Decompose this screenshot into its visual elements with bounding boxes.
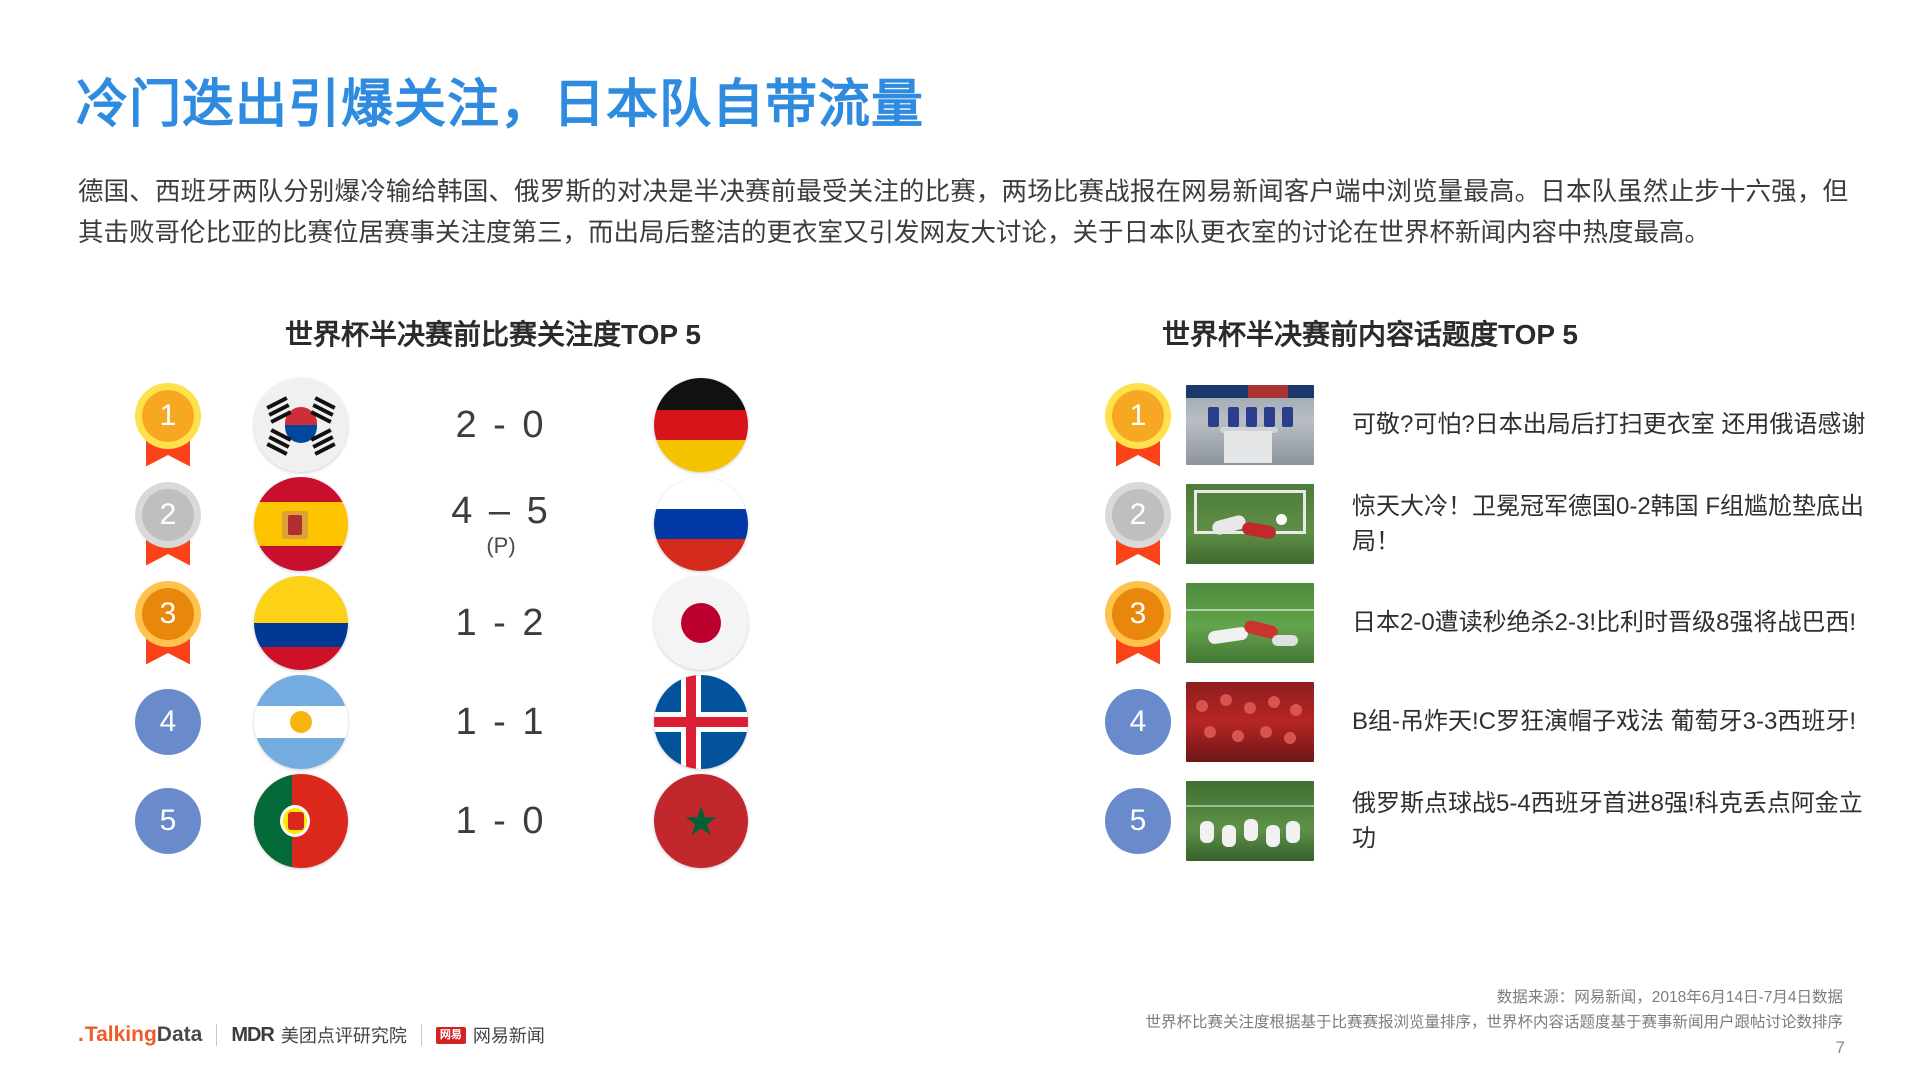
rank-badge-5: 5 [1090,788,1186,854]
rank-label: 5 [160,804,177,838]
rank-circle-icon: 5 [135,788,201,854]
netease-badge-icon: 网易 [436,1027,466,1044]
rank-badge-2: 2 [120,482,216,566]
rank-label: 2 [160,498,177,532]
methodology-line: 世界杯比赛关注度根据基于比赛赛报浏览量排序，世界杯内容话题度基于赛事新闻用户跟帖… [1145,1010,1843,1035]
colombia-flag-icon [254,576,348,670]
rank-label: 2 [1130,498,1147,532]
gold-medal-icon: 1 [135,383,201,467]
match-row: 3 1 - 2 [120,573,880,672]
brand-divider [421,1024,422,1046]
rank-label: 1 [160,399,177,433]
talkingdata-logo-text-a: Talking [85,1023,157,1047]
rank-badge-3: 3 [120,581,216,665]
rank-badge-3: 3 [1090,581,1186,665]
home-flag-cell [216,378,386,472]
red-crowd-thumbnail[interactable] [1186,682,1314,762]
page-title: 冷门迭出引爆关注，日本队自带流量 [76,62,924,137]
rank-badge-1: 1 [120,383,216,467]
brand-logo-bar: . Talking Data MDR 美团点评研究院 网易 网易新闻 [78,1022,545,1048]
rank-badge-1: 1 [1090,383,1186,467]
germany-flag-icon [654,378,748,472]
home-flag-cell [216,477,386,571]
talkingdata-logo: . Talking Data [78,1023,202,1047]
iceland-flag-icon [654,675,748,769]
news-row: 5 俄罗斯点球战5-4西班牙首进8强!科克丢点阿金立功 [1090,771,1880,870]
rank-circle-icon: 4 [135,689,201,755]
news-title[interactable]: 俄罗斯点球战5-4西班牙首进8强!科克丢点阿金立功 [1336,786,1880,856]
news-title[interactable]: 惊天大冷！卫冕冠军德国0-2韩国 F组尴尬垫底出局！ [1336,489,1880,559]
silver-medal-icon: 2 [135,482,201,566]
argentina-flag-icon [254,675,348,769]
rank-label: 4 [160,705,177,739]
rank-badge-2: 2 [1090,482,1186,566]
page-number: 7 [1836,1038,1845,1058]
rank-label: 3 [1130,597,1147,631]
match-ranking-list: 1 2 - 0 [120,375,880,870]
right-section-heading: 世界杯半决赛前内容话题度TOP 5 [1162,313,1578,353]
bronze-medal-icon: 3 [1105,581,1171,665]
match-score: 1 - 2 [386,601,616,645]
rank-circle-icon: 4 [1105,689,1171,755]
home-flag-cell [216,675,386,769]
rank-label: 1 [1130,399,1147,433]
match-row: 1 2 - 0 [120,375,880,474]
netease-news-logo: 网易 网易新闻 [436,1022,545,1048]
page-subtitle: 德国、西班牙两队分别爆冷输给韩国、俄罗斯的对决是半决赛前最受关注的比赛，两场比赛… [78,172,1848,254]
netease-label: 网易新闻 [473,1022,545,1048]
away-flag-cell [616,378,786,472]
bronze-medal-icon: 3 [135,581,201,665]
goalmouth-save-thumbnail[interactable] [1186,484,1314,564]
mdr-logo-text: MDR [231,1024,274,1047]
news-row: 1 可敬?可怕?日本出局后打扫更衣室 还用俄语感谢 [1090,375,1880,474]
news-thumbnail-cell[interactable] [1186,781,1336,861]
score-cell: 1 - 2 [386,601,616,645]
news-thumbnail-cell[interactable] [1186,484,1336,564]
rank-badge-4: 4 [1090,689,1186,755]
portugal-flag-icon [254,774,348,868]
news-title[interactable]: B组-吊炸天!C罗狂演帽子戏法 葡萄牙3-3西班牙! [1336,704,1880,739]
news-title[interactable]: 日本2-0遭读秒绝杀2-3!比利时晋级8强将战巴西! [1336,605,1880,640]
rank-label: 4 [1130,705,1147,739]
south-korea-flag-icon [254,378,348,472]
white-celebration-thumbnail[interactable] [1186,781,1314,861]
score-cell: 2 - 0 [386,403,616,447]
talkingdata-logo-text-b: Data [157,1023,203,1047]
rank-label: 3 [160,597,177,631]
talkingdata-dot-icon: . [78,1023,84,1047]
morocco-flag-icon: ★ [654,774,748,868]
score-cell: 1 - 1 [386,700,616,744]
match-row: 4 1 - 1 [120,672,880,771]
match-score: 2 - 0 [386,403,616,447]
match-score: 1 - 1 [386,700,616,744]
data-source-line: 数据来源：网易新闻，2018年6月14日-7月4日数据 [1145,985,1843,1010]
news-thumbnail-cell[interactable] [1186,583,1336,663]
slide-root: 冷门迭出引爆关注，日本队自带流量 德国、西班牙两队分别爆冷输给韩国、俄罗斯的对决… [0,0,1921,1080]
score-cell: 1 - 0 [386,799,616,843]
meituan-dianping-logo: MDR 美团点评研究院 [231,1022,407,1048]
rank-circle-icon: 5 [1105,788,1171,854]
match-score: 4 – 5 [386,489,616,533]
away-flag-cell [616,477,786,571]
mdr-label: 美团点评研究院 [281,1022,407,1048]
news-ranking-list: 1 可敬?可怕?日本出局后打扫更衣室 还用俄语感谢 2 [1090,375,1880,870]
rank-badge-4: 4 [120,689,216,755]
news-row: 3 日本2-0遭读秒绝杀2-3!比利时晋级8强将战巴西! [1090,573,1880,672]
away-flag-cell [616,576,786,670]
match-row: 2 4 – 5 (P) [120,474,880,573]
russia-flag-icon [654,477,748,571]
news-title[interactable]: 可敬?可怕?日本出局后打扫更衣室 还用俄语感谢 [1336,407,1880,442]
spain-flag-icon [254,477,348,571]
home-flag-cell [216,774,386,868]
home-flag-cell [216,576,386,670]
match-score: 1 - 0 [386,799,616,843]
rank-badge-5: 5 [120,788,216,854]
silver-medal-icon: 2 [1105,482,1171,566]
away-flag-cell: ★ [616,774,786,868]
locker-room-thumbnail[interactable] [1186,385,1314,465]
rank-label: 5 [1130,804,1147,838]
away-flag-cell [616,675,786,769]
match-row: 5 1 - 0 ★ [120,771,880,870]
match-score-note: (P) [386,533,616,559]
score-cell: 4 – 5 (P) [386,489,616,559]
pitch-celebration-thumbnail[interactable] [1186,583,1314,663]
japan-flag-icon [654,576,748,670]
news-thumbnail-cell[interactable] [1186,385,1336,465]
footer-source-note: 数据来源：网易新闻，2018年6月14日-7月4日数据 世界杯比赛关注度根据基于… [1145,985,1843,1035]
left-section-heading: 世界杯半决赛前比赛关注度TOP 5 [285,313,701,353]
brand-divider [216,1024,217,1046]
news-row: 4 B组-吊炸天!C罗狂演帽子戏法 葡萄牙3-3西班牙! [1090,672,1880,771]
news-row: 2 惊天大冷！卫冕冠军德国0-2韩国 F组尴尬垫底出局！ [1090,474,1880,573]
news-thumbnail-cell[interactable] [1186,682,1336,762]
gold-medal-icon: 1 [1105,383,1171,467]
